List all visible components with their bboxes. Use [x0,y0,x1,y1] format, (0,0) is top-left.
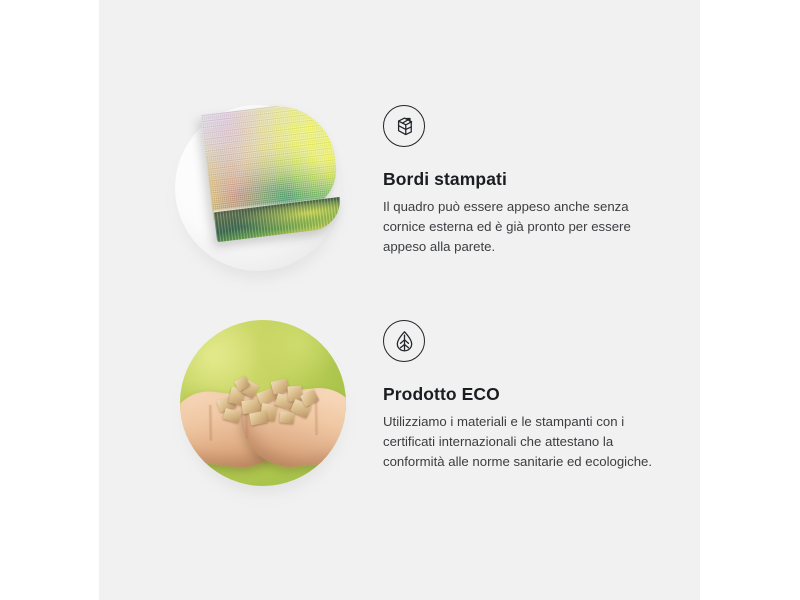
circular-image-mask [180,320,346,486]
feature-text-eco-product: Prodotto ECO Utilizziamo i materiali e l… [383,320,673,472]
feature-eco-product: Prodotto ECO Utilizziamo i materiali e l… [99,300,700,515]
canvas-wrapped-edge-icon [383,105,425,147]
canvas-block [201,100,344,243]
feature-printed-edges: Bordi stampati Il quadro può essere appe… [99,85,700,295]
feature-description: Utilizziamo i materiali e le stampanti c… [383,412,658,472]
wood-chips-pile [214,376,322,432]
feature-description: Il quadro può essere appeso anche senza … [383,197,658,257]
canvas-illustration [175,105,341,271]
feature-title: Bordi stampati [383,169,673,190]
leaf-glyph [391,328,418,355]
feature-title: Prodotto ECO [383,384,673,405]
leaf-icon [383,320,425,362]
hands-wood-chips-photo [180,320,346,486]
canvas-corner-photo [175,105,341,271]
content-panel: Bordi stampati Il quadro può essere appe… [99,0,700,600]
product-feature-page: Bordi stampati Il quadro può essere appe… [0,0,800,600]
feature-text-printed-edges: Bordi stampati Il quadro può essere appe… [383,105,673,257]
canvas-wrapped-edge-glyph [391,113,418,140]
